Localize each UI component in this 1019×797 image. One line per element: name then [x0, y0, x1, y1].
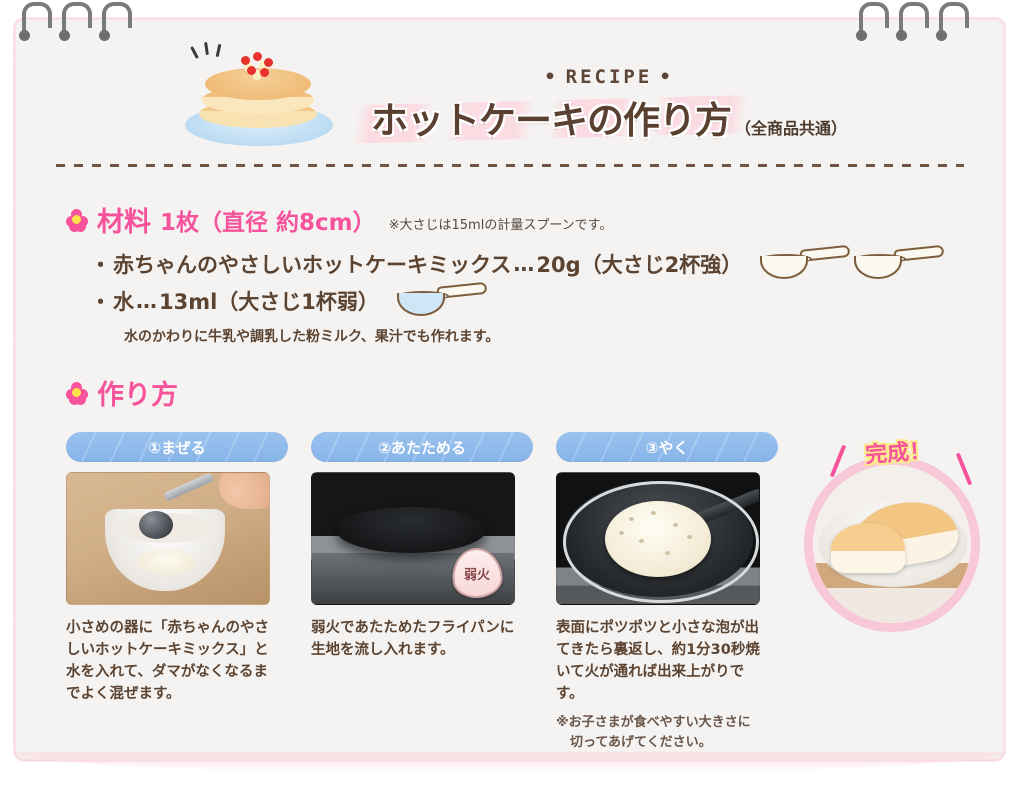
ingredients-quantity: 1枚（直径 約8cm）	[160, 203, 376, 237]
method-step-3: ③やく 表面にポツポツと小さな泡が出てきたら裏返し、約1分30秒焼いて火が通れば…	[556, 432, 778, 752]
page-title: ホットケーキの作り方	[371, 90, 731, 144]
step-1-text: 小さめの器に「赤ちゃんのやさしいホットケーキミックス」と水を入れて、ダマがなくな…	[66, 617, 280, 705]
page-bottom-curl	[16, 752, 1003, 774]
binder-hook-icon	[102, 0, 128, 44]
binder-hook-icon	[939, 0, 965, 44]
binder-hook-icon	[859, 0, 885, 44]
ingredient-amount: 20g（大さじ2杯強）	[536, 249, 742, 279]
measuring-spoon-icon	[760, 250, 846, 278]
binder-hooks-left	[22, 0, 128, 44]
dashed-divider	[56, 164, 964, 167]
ingredient-amount: 13ml（大さじ1杯弱）	[159, 286, 379, 316]
step-1-chip-label: ①まぜる	[148, 437, 205, 458]
method-heading: 作り方	[66, 373, 178, 412]
photo-pancake-in-pan	[556, 472, 760, 605]
page-title-suffix: （全商品共通）	[735, 115, 847, 144]
binder-hook-icon	[22, 0, 48, 44]
step-3-subnote-line2: 切ってあげてください。	[556, 733, 770, 753]
ingredient-row-mix: ・ 赤ちゃんのやさしいホットケーキミックス … 20g（大さじ2杯強）	[90, 249, 940, 279]
step-3-text: 表面にポツポツと小さな泡が出てきたら裏返し、約1分30秒焼いて火が通れば出来上が…	[556, 617, 770, 705]
finished-label: 完成！	[849, 425, 948, 478]
photo-finished-pancake-plate	[813, 465, 971, 623]
measuring-spoon-icon	[854, 250, 940, 278]
title-block: •RECIPE• ホットケーキの作り方 （全商品共通）	[349, 66, 869, 144]
flower-icon	[66, 209, 88, 231]
step-3-subnote-line1: ※お子さまが食べやすい大きさに	[556, 715, 751, 730]
weak-fire-badge-label: 弱火	[464, 564, 490, 583]
kansei-dash-right-icon	[956, 452, 972, 485]
step-1-chip: ①まぜる	[66, 432, 288, 462]
ingredient-dots: …	[136, 289, 157, 313]
ingredient-bullet: ・	[90, 286, 111, 316]
ingredients-footnote: 水のかわりに牛乳や調乳した粉ミルク、果汁でも作れます。	[124, 326, 499, 346]
photo-frying-pan-stove: 弱火	[311, 472, 515, 605]
ingredients-note: ※大さじは15mlの計量スプーンです。	[385, 206, 613, 233]
eyebrow-dot-left: •	[537, 66, 565, 88]
recipe-label-text: RECIPE	[566, 66, 653, 88]
recipe-eyebrow-label: •RECIPE•	[349, 66, 869, 88]
method-step-1: ①まぜる 小さめの器に「赤ちゃんのやさしいホットケーキミックス」と水を入れて、ダ…	[66, 432, 288, 705]
method-step-2: ②あたためる 弱火 弱火であたためたフライパンに生地を流し入れます。	[311, 432, 533, 661]
step-2-chip-label: ②あたためる	[378, 437, 466, 458]
ingredients-heading: 材料 1枚（直径 約8cm） ※大さじは15mlの計量スプーンです。	[66, 200, 612, 239]
pancake-stack-icon	[179, 42, 339, 152]
step-2-chip: ②あたためる	[311, 432, 533, 462]
step-3-subnote: ※お子さまが食べやすい大きさに 切ってあげてください。	[556, 713, 770, 752]
flower-icon	[66, 382, 88, 404]
page-header: •RECIPE• ホットケーキの作り方 （全商品共通）	[14, 30, 1005, 162]
ingredient-name: 赤ちゃんのやさしいホットケーキミックス	[113, 249, 511, 279]
finished-panel: 完成！	[804, 456, 980, 632]
title-row: ホットケーキの作り方 （全商品共通）	[349, 90, 869, 144]
ingredients-heading-text: 材料	[97, 200, 151, 239]
ingredient-dots: …	[513, 252, 534, 276]
measuring-spoon-water-icon	[397, 287, 483, 315]
step-2-text: 弱火であたためたフライパンに生地を流し入れます。	[311, 617, 525, 661]
recipe-page-card: •RECIPE• ホットケーキの作り方 （全商品共通） 材料 1枚（直径 約8c…	[14, 18, 1005, 760]
eyebrow-dot-right: •	[652, 66, 680, 88]
ingredient-row-water: ・ 水 … 13ml（大さじ1杯弱）	[90, 286, 483, 316]
binder-hook-icon	[62, 0, 88, 44]
binder-hooks-right	[859, 0, 965, 44]
binder-hook-icon	[899, 0, 925, 44]
step-3-chip-label: ③やく	[646, 437, 689, 458]
method-heading-text: 作り方	[97, 373, 178, 412]
finished-photo-ring	[804, 456, 980, 632]
step-3-chip: ③やく	[556, 432, 778, 462]
ingredient-name: 水	[113, 286, 134, 316]
ingredient-bullet: ・	[90, 249, 111, 279]
photo-mixing-bowl	[66, 472, 270, 605]
